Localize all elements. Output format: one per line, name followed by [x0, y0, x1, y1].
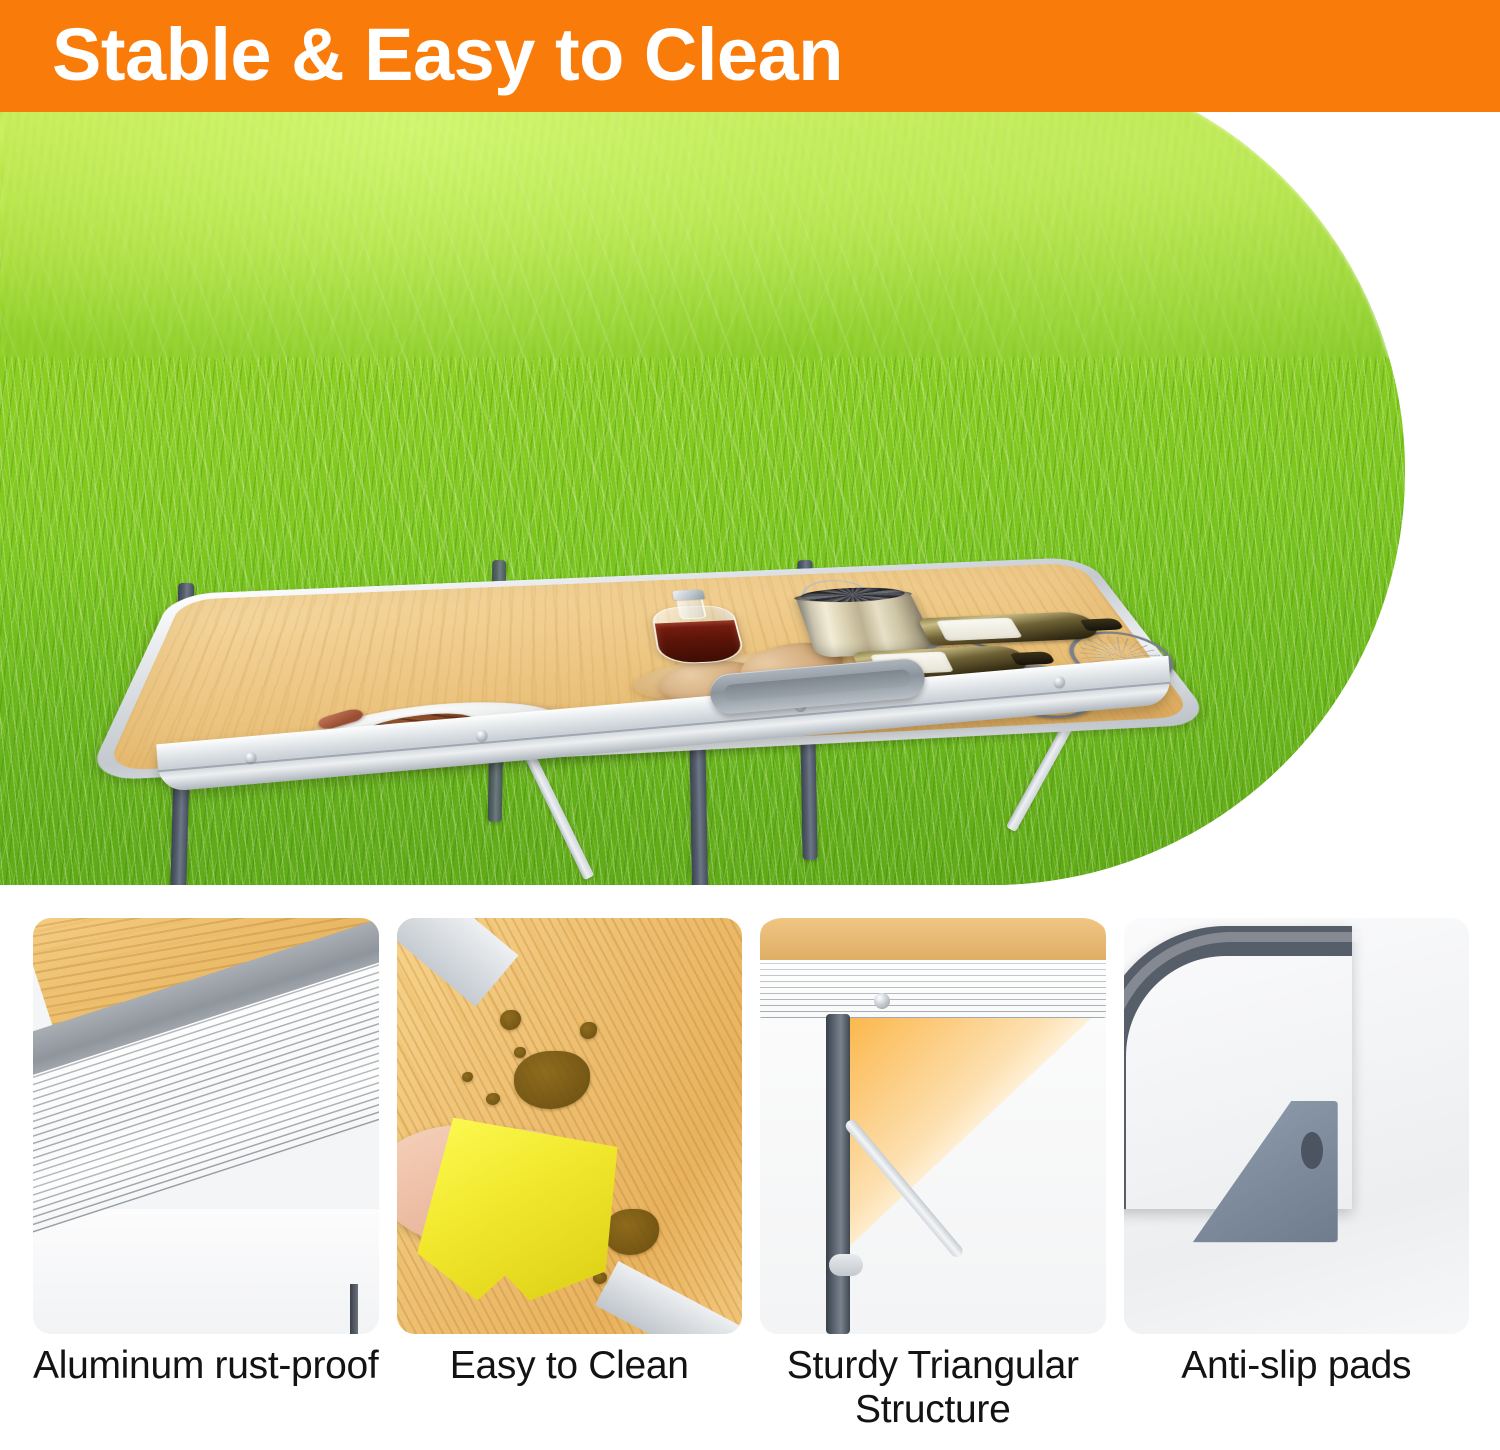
feature-image-easy-to-clean[interactable] — [397, 918, 743, 1334]
caption-anti-slip-pads: Anti-slip pads — [1124, 1344, 1470, 1433]
panel1-leg-tip — [350, 1284, 358, 1334]
rivet — [245, 752, 257, 764]
header-banner: Stable & Easy to Clean — [0, 0, 1500, 112]
caption-aluminum-rust-proof: Aluminum rust-proof — [33, 1344, 379, 1433]
caption-sturdy-triangular-structure: Sturdy Triangular Structure — [760, 1344, 1106, 1433]
panel3-aluminum-rail — [760, 960, 1106, 1018]
wine-bottle-label-back — [936, 618, 1023, 641]
spill-droplet — [514, 1047, 526, 1058]
decanter-liquid — [655, 620, 745, 664]
rivet — [476, 729, 488, 741]
decanter-neck — [676, 597, 707, 620]
panel3-table-leg — [826, 1014, 850, 1334]
yellow-cleaning-cloth — [417, 1118, 617, 1301]
screw-icon — [874, 993, 890, 1009]
panel1-background — [33, 1209, 379, 1334]
spill-droplet — [462, 1072, 472, 1082]
page-title: Stable & Easy to Clean — [52, 12, 843, 97]
decanter-cap — [672, 589, 705, 600]
product-feature-page: Stable & Easy to Clean — [0, 0, 1500, 1450]
spill-droplet — [580, 1022, 597, 1039]
wine-bottle-neck-front — [1010, 652, 1056, 666]
rivet — [1054, 676, 1066, 688]
wine-bottle-neck-back — [1079, 618, 1124, 631]
foot-pad-hole — [1301, 1132, 1323, 1169]
feature-image-aluminum-rust-proof[interactable] — [33, 918, 379, 1334]
caption-easy-to-clean: Easy to Clean — [397, 1344, 743, 1433]
feature-thumbnail-row — [33, 918, 1469, 1334]
hero-image — [0, 58, 1405, 885]
feature-caption-row: Aluminum rust-proof Easy to Clean Sturdy… — [33, 1344, 1469, 1433]
feature-image-sturdy-triangular-structure[interactable] — [760, 918, 1106, 1334]
feature-image-anti-slip-pads[interactable] — [1124, 918, 1470, 1334]
folding-table — [120, 328, 1240, 885]
panel3-brace-foot — [829, 1254, 863, 1276]
